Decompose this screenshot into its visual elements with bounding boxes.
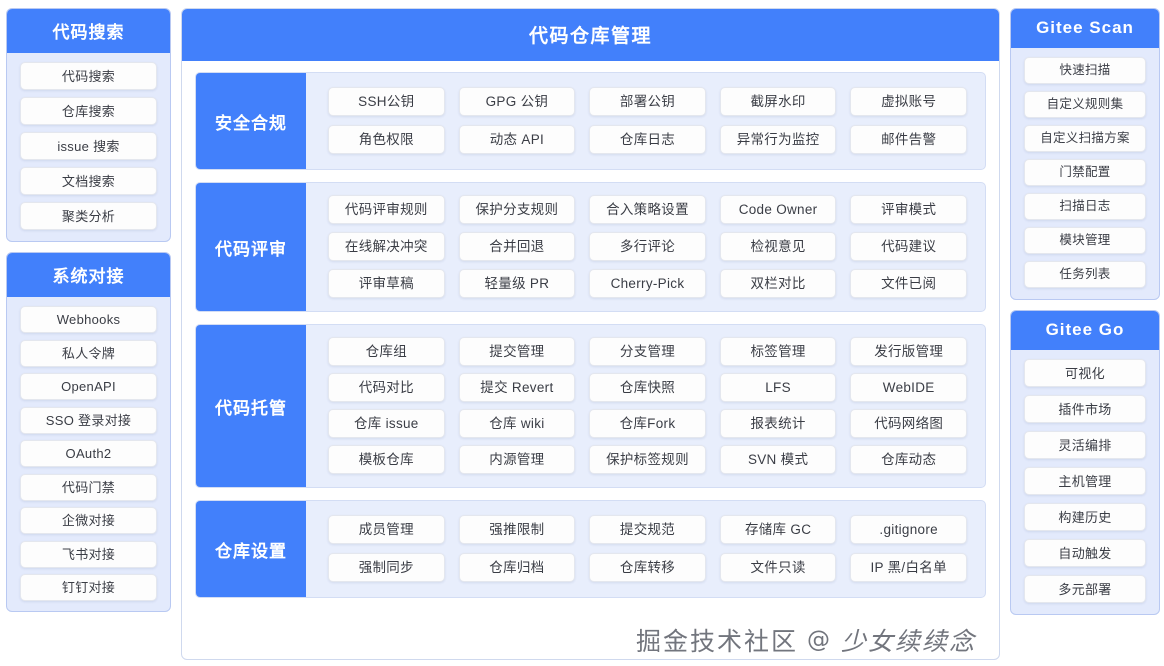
scan-item-quick-scan[interactable]: 快速扫描 [1024, 57, 1146, 84]
sidebar-item-feishu[interactable]: 飞书对接 [20, 541, 157, 568]
feature-repo-snapshot[interactable]: 仓库快照 [589, 373, 706, 402]
feature-branch-management[interactable]: 分支管理 [589, 337, 706, 366]
feature-force-sync[interactable]: 强制同步 [328, 553, 445, 582]
feature-deploy-key[interactable]: 部署公钥 [589, 87, 706, 116]
sidebar-item-code-search[interactable]: 代码搜索 [20, 62, 157, 90]
panel-system-integration-title: 系统对接 [7, 253, 170, 297]
feature-file-viewed[interactable]: 文件已阅 [850, 269, 967, 298]
left-sidebar: 代码搜索 代码搜索 仓库搜索 issue 搜索 文档搜索 聚类分析 系统对接 W… [6, 8, 171, 660]
feature-repo-gc[interactable]: 存储库 GC [720, 515, 837, 544]
feature-commit-management[interactable]: 提交管理 [459, 337, 576, 366]
feature-online-conflict-resolve[interactable]: 在线解决冲突 [328, 232, 445, 261]
feature-protected-tag-rules[interactable]: 保护标签规则 [589, 445, 706, 474]
feature-template-repo[interactable]: 模板仓库 [328, 445, 445, 474]
sidebar-item-issue-search[interactable]: issue 搜索 [20, 132, 157, 160]
feature-lfs[interactable]: LFS [720, 373, 837, 402]
feature-ip-allowlist[interactable]: IP 黑/白名单 [850, 553, 967, 582]
feature-code-diff[interactable]: 代码对比 [328, 373, 445, 402]
section-code-hosting-label: 代码托管 [196, 325, 306, 487]
feature-repo-activity[interactable]: 仓库动态 [850, 445, 967, 474]
feature-email-alert[interactable]: 邮件告警 [850, 125, 967, 154]
page-root: 代码搜索 代码搜索 仓库搜索 issue 搜索 文档搜索 聚类分析 系统对接 W… [0, 0, 1164, 666]
main-panel: 代码仓库管理 安全合规 SSH公钥 GPG 公钥 部署公钥 截屏水印 虚拟账号 … [181, 8, 1000, 660]
sidebar-item-private-token[interactable]: 私人令牌 [20, 340, 157, 367]
feature-repo-group[interactable]: 仓库组 [328, 337, 445, 366]
sidebar-item-wecom[interactable]: 企微对接 [20, 507, 157, 534]
section-repo-settings-grid: 成员管理 强推限制 提交规范 存储库 GC .gitignore 强制同步 仓库… [306, 501, 985, 597]
scan-item-scan-log[interactable]: 扫描日志 [1024, 193, 1146, 220]
feature-code-suggestion[interactable]: 代码建议 [850, 232, 967, 261]
feature-repo-wiki[interactable]: 仓库 wiki [459, 409, 576, 438]
feature-cherry-pick[interactable]: Cherry-Pick [589, 269, 706, 298]
feature-ssh-key[interactable]: SSH公钥 [328, 87, 445, 116]
go-item-multi-deploy[interactable]: 多元部署 [1024, 575, 1146, 603]
scan-item-task-list[interactable]: 任务列表 [1024, 261, 1146, 288]
panel-gitee-go: Gitee Go 可视化 插件市场 灵活编排 主机管理 构建历史 自动触发 多元… [1010, 310, 1160, 615]
main-sections: 安全合规 SSH公钥 GPG 公钥 部署公钥 截屏水印 虚拟账号 角色权限 动态… [182, 61, 999, 659]
feature-dynamic-api[interactable]: 动态 API [459, 125, 576, 154]
sidebar-item-sso-login[interactable]: SSO 登录对接 [20, 407, 157, 434]
panel-code-search-title: 代码搜索 [7, 9, 170, 53]
feature-tag-management[interactable]: 标签管理 [720, 337, 837, 366]
feature-gitignore[interactable]: .gitignore [850, 515, 967, 544]
feature-code-network-graph[interactable]: 代码网络图 [850, 409, 967, 438]
feature-code-owner[interactable]: Code Owner [720, 195, 837, 224]
feature-release-management[interactable]: 发行版管理 [850, 337, 967, 366]
sidebar-item-doc-search[interactable]: 文档搜索 [20, 167, 157, 195]
section-security: 安全合规 SSH公钥 GPG 公钥 部署公钥 截屏水印 虚拟账号 角色权限 动态… [195, 72, 986, 170]
feature-review-rules[interactable]: 代码评审规则 [328, 195, 445, 224]
section-code-review-label: 代码评审 [196, 183, 306, 311]
panel-code-search-items: 代码搜索 仓库搜索 issue 搜索 文档搜索 聚类分析 [7, 53, 170, 241]
feature-repo-log[interactable]: 仓库日志 [589, 125, 706, 154]
sidebar-item-cluster-analysis[interactable]: 聚类分析 [20, 202, 157, 230]
feature-member-management[interactable]: 成员管理 [328, 515, 445, 544]
feature-role-permission[interactable]: 角色权限 [328, 125, 445, 154]
go-item-host-management[interactable]: 主机管理 [1024, 467, 1146, 495]
go-item-visualization[interactable]: 可视化 [1024, 359, 1146, 387]
sidebar-item-openapi[interactable]: OpenAPI [20, 373, 157, 400]
feature-commit-revert[interactable]: 提交 Revert [459, 373, 576, 402]
feature-svn-mode[interactable]: SVN 模式 [720, 445, 837, 474]
sidebar-item-webhooks[interactable]: Webhooks [20, 306, 157, 333]
feature-protected-branch-rules[interactable]: 保护分支规则 [459, 195, 576, 224]
feature-force-push-limit[interactable]: 强推限制 [459, 515, 576, 544]
panel-code-search: 代码搜索 代码搜索 仓库搜索 issue 搜索 文档搜索 聚类分析 [6, 8, 171, 242]
scan-item-custom-scan-plan[interactable]: 自定义扫描方案 [1024, 125, 1146, 152]
sidebar-item-oauth2[interactable]: OAuth2 [20, 440, 157, 467]
section-repo-settings: 仓库设置 成员管理 强推限制 提交规范 存储库 GC .gitignore 强制… [195, 500, 986, 598]
feature-screen-watermark[interactable]: 截屏水印 [720, 87, 837, 116]
section-code-hosting: 代码托管 仓库组 提交管理 分支管理 标签管理 发行版管理 代码对比 提交 Re… [195, 324, 986, 488]
feature-merge-rollback[interactable]: 合并回退 [459, 232, 576, 261]
go-item-auto-trigger[interactable]: 自动触发 [1024, 539, 1146, 567]
feature-review-mode[interactable]: 评审模式 [850, 195, 967, 224]
feature-inner-source[interactable]: 内源管理 [459, 445, 576, 474]
feature-report-statistics[interactable]: 报表统计 [720, 409, 837, 438]
section-repo-settings-label: 仓库设置 [196, 501, 306, 597]
feature-merge-strategy[interactable]: 合入策略设置 [589, 195, 706, 224]
feature-lightweight-pr[interactable]: 轻量级 PR [459, 269, 576, 298]
feature-multiline-comment[interactable]: 多行评论 [589, 232, 706, 261]
section-code-review-grid: 代码评审规则 保护分支规则 合入策略设置 Code Owner 评审模式 在线解… [306, 183, 985, 311]
panel-gitee-scan: Gitee Scan 快速扫描 自定义规则集 自定义扫描方案 门禁配置 扫描日志… [1010, 8, 1160, 300]
section-code-hosting-grid: 仓库组 提交管理 分支管理 标签管理 发行版管理 代码对比 提交 Revert … [306, 325, 985, 487]
right-sidebar: Gitee Scan 快速扫描 自定义规则集 自定义扫描方案 门禁配置 扫描日志… [1010, 8, 1160, 660]
feature-repo-fork[interactable]: 仓库Fork [589, 409, 706, 438]
panel-gitee-go-title: Gitee Go [1011, 311, 1159, 350]
scan-item-gate-config[interactable]: 门禁配置 [1024, 159, 1146, 186]
section-security-grid: SSH公钥 GPG 公钥 部署公钥 截屏水印 虚拟账号 角色权限 动态 API … [306, 73, 985, 169]
feature-review-draft[interactable]: 评审草稿 [328, 269, 445, 298]
scan-item-custom-ruleset[interactable]: 自定义规则集 [1024, 91, 1146, 118]
panel-system-integration-items: Webhooks 私人令牌 OpenAPI SSO 登录对接 OAuth2 代码… [7, 297, 170, 611]
go-item-build-history[interactable]: 构建历史 [1024, 503, 1146, 531]
scan-item-module-management[interactable]: 模块管理 [1024, 227, 1146, 254]
feature-review-opinion[interactable]: 检视意见 [720, 232, 837, 261]
feature-file-readonly[interactable]: 文件只读 [720, 553, 837, 582]
feature-anomaly-monitor[interactable]: 异常行为监控 [720, 125, 837, 154]
feature-virtual-account[interactable]: 虚拟账号 [850, 87, 967, 116]
section-code-review: 代码评审 代码评审规则 保护分支规则 合入策略设置 Code Owner 评审模… [195, 182, 986, 312]
panel-system-integration: 系统对接 Webhooks 私人令牌 OpenAPI SSO 登录对接 OAut… [6, 252, 171, 612]
feature-side-by-side-diff[interactable]: 双栏对比 [720, 269, 837, 298]
sidebar-item-dingtalk[interactable]: 钉钉对接 [20, 574, 157, 601]
feature-repo-issue[interactable]: 仓库 issue [328, 409, 445, 438]
feature-webide[interactable]: WebIDE [850, 373, 967, 402]
panel-gitee-scan-title: Gitee Scan [1011, 9, 1159, 48]
feature-commit-convention[interactable]: 提交规范 [589, 515, 706, 544]
feature-gpg-key[interactable]: GPG 公钥 [459, 87, 576, 116]
go-item-flexible-orchestration[interactable]: 灵活编排 [1024, 431, 1146, 459]
panel-gitee-scan-items: 快速扫描 自定义规则集 自定义扫描方案 门禁配置 扫描日志 模块管理 任务列表 [1011, 48, 1159, 299]
panel-gitee-go-items: 可视化 插件市场 灵活编排 主机管理 构建历史 自动触发 多元部署 [1011, 350, 1159, 614]
go-item-plugin-market[interactable]: 插件市场 [1024, 395, 1146, 423]
section-security-label: 安全合规 [196, 73, 306, 169]
feature-repo-transfer[interactable]: 仓库转移 [589, 553, 706, 582]
sidebar-item-repo-search[interactable]: 仓库搜索 [20, 97, 157, 125]
sidebar-item-code-gate[interactable]: 代码门禁 [20, 474, 157, 501]
page-title: 代码仓库管理 [182, 9, 999, 61]
feature-repo-archive[interactable]: 仓库归档 [459, 553, 576, 582]
